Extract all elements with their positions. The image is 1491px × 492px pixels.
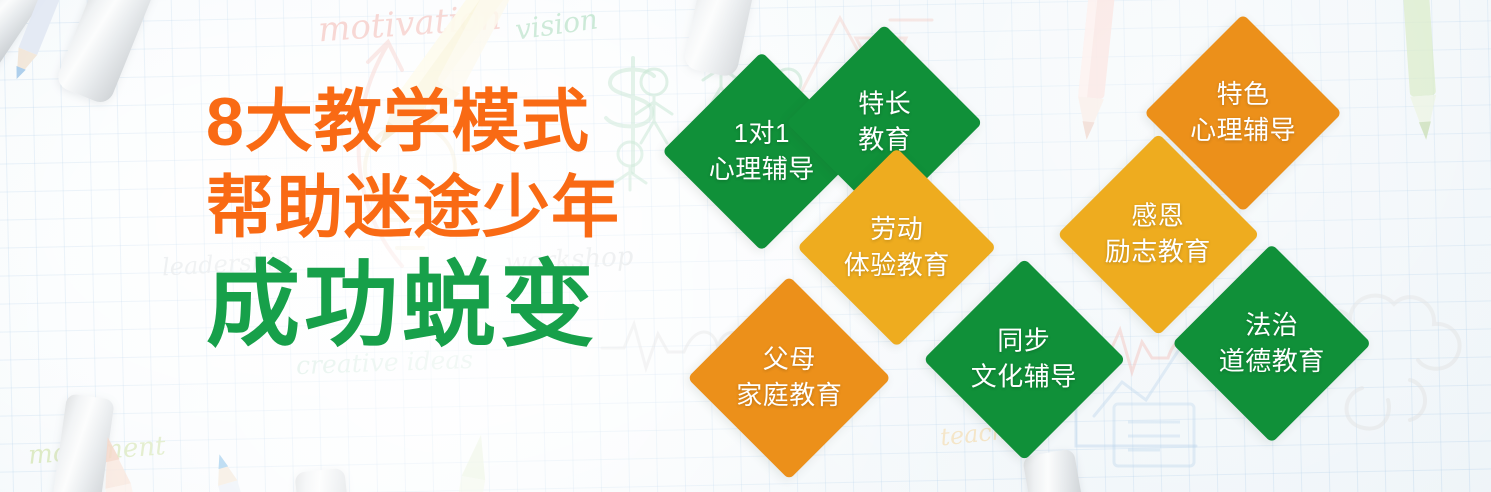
diamond-label-specialty-education: 特长教育 [857, 86, 910, 158]
diamond-label-line1: 同步 [997, 325, 1050, 355]
diamond-label-line2: 教育 [857, 122, 910, 158]
promo-banner: motivation vision workshop leadership cr… [0, 0, 1491, 492]
diamond-label-synchronized-tutoring: 同步文化辅导 [971, 323, 1077, 395]
diamond-label-line2: 文化辅导 [971, 359, 1077, 395]
diamond-label-featured-counseling: 特色心理辅导 [1190, 77, 1296, 149]
diamond-label-line1: 特长 [857, 88, 910, 118]
diamond-label-law-and-morality: 法治道德教育 [1219, 308, 1325, 380]
diamond-label-line1: 父母 [762, 344, 815, 374]
diamond-label-line1: 特色 [1216, 79, 1269, 109]
diamond-label-line2: 体验教育 [844, 248, 950, 284]
diamond-label-line2: 家庭教育 [736, 378, 842, 414]
headline-line-1: 8大教学模式 [206, 88, 676, 156]
diamond-label-line2: 励志教育 [1105, 234, 1211, 270]
headline-block: 8大教学模式 帮助迷途少年 成功蜕变 [206, 88, 676, 352]
diamond-label-line1: 劳动 [870, 214, 923, 244]
diamond-label-parent-family: 父母家庭教育 [736, 342, 842, 414]
diamond-label-line2: 心理辅导 [709, 152, 815, 188]
headline-line-2: 帮助迷途少年 [206, 174, 676, 242]
diamond-label-line1: 法治 [1245, 310, 1298, 340]
diamond-label-line2: 道德教育 [1219, 344, 1325, 380]
diamond-label-line2: 心理辅导 [1190, 113, 1296, 149]
headline-line-3: 成功蜕变 [206, 258, 676, 352]
diamond-label-labor-experience: 劳动体验教育 [844, 212, 950, 284]
diamond-label-line1: 1对1 [734, 118, 790, 148]
diamond-label-line1: 感恩 [1131, 200, 1184, 230]
diamond-label-gratitude-inspiration: 感恩励志教育 [1105, 198, 1211, 270]
